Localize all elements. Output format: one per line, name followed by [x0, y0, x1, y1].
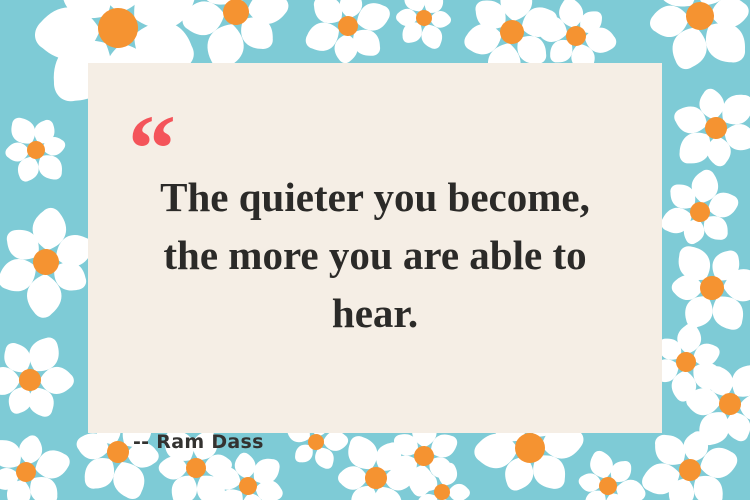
quote-line-1: The quieter you become, — [106, 168, 644, 226]
quote-poster: “ The quieter you become, the more you a… — [0, 0, 750, 500]
quote-text: The quieter you become, the more you are… — [106, 168, 644, 342]
quote-card: “ The quieter you become, the more you a… — [88, 63, 662, 433]
quote-line-3: hear. — [106, 284, 644, 342]
quote-line-2: the more you are able to — [106, 226, 644, 284]
quote-attribution: -- Ram Dass — [133, 431, 264, 453]
